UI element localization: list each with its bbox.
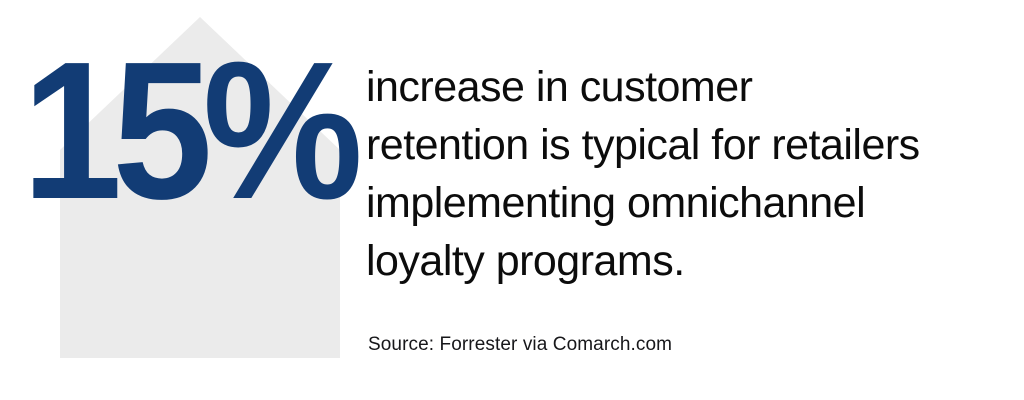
source-attribution: Source: Forrester via Comarch.com [368,332,672,358]
stat-value: 15% [22,41,353,221]
statement-line-2: retention is typical for retailers [366,116,1014,174]
statement-line-4: loyalty programs. [366,232,1014,290]
stat-callout-card: 15% increase in customer retention is ty… [0,0,1024,400]
statement-line-3: implementing omnichannel [366,174,1014,232]
statement-block: increase in customer retention is typica… [366,58,1014,290]
stat-figure: 15% [22,36,372,226]
statement-line-1: increase in customer [366,58,1014,116]
